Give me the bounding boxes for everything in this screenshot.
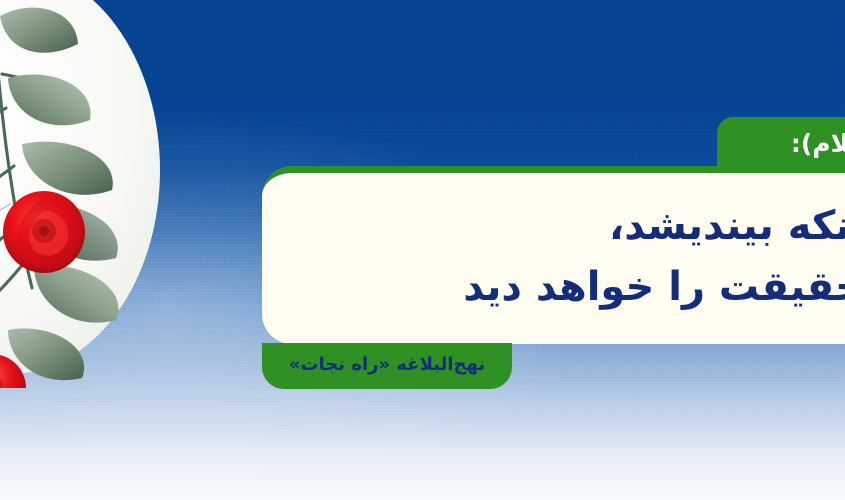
quote-card-canvas: السلام): آنکه بیندیشد، حقیقت را خواهد دی… (0, 0, 845, 500)
speaker-attribution-tab: السلام): (717, 117, 845, 169)
quote-line-1: آنکه بیندیشد، (262, 196, 845, 257)
quote-source-tab: نهج‌البلاغه «راه نجات» (262, 343, 512, 389)
quote-card: آنکه بیندیشد، حقیقت را خواهد دید (262, 166, 845, 344)
speaker-attribution-text: السلام): (791, 131, 845, 156)
quote-line-2: حقیقت را خواهد دید (262, 257, 845, 318)
quote-source-text: نهج‌البلاغه «راه نجات» (289, 356, 485, 374)
